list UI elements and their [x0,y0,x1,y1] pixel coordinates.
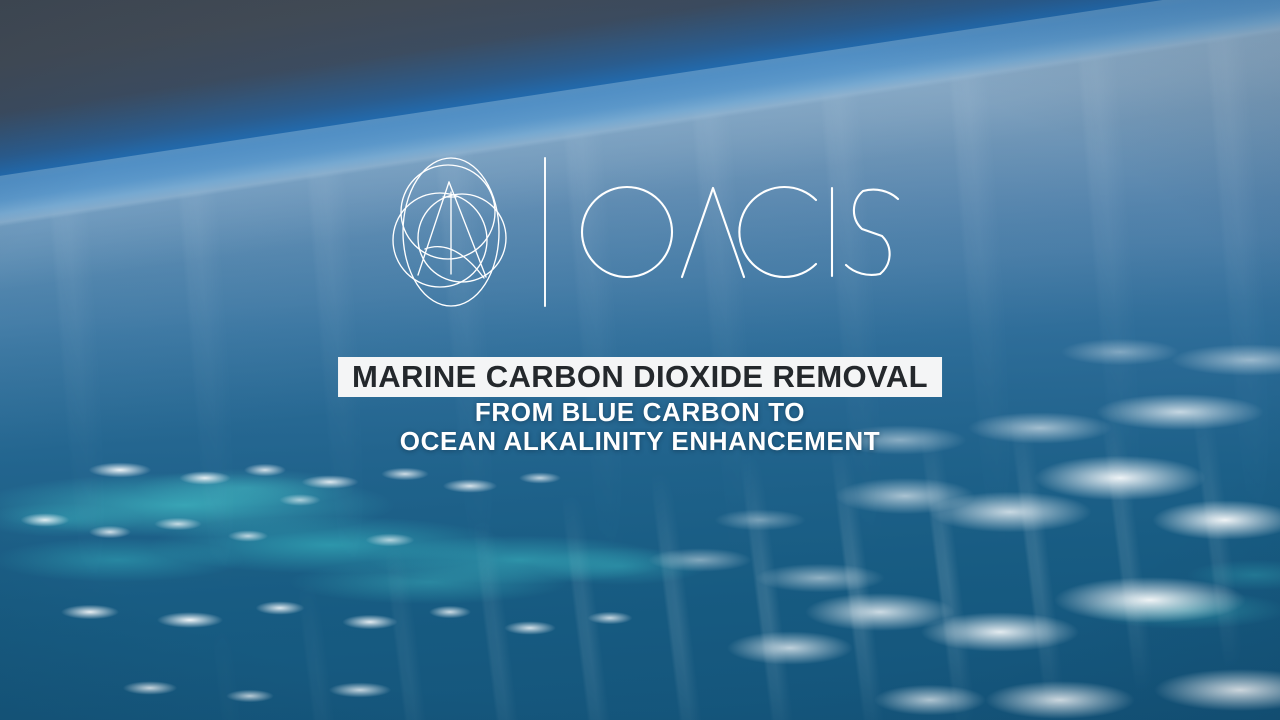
oacis-wordmark [580,172,902,292]
subtitle-line-1: FROM BLUE CARBON TO [140,398,1140,427]
oacis-logo-mark-icon [378,152,530,312]
title-slide: MARINE CARBON DIOXIDE REMOVAL FROM BLUE … [0,0,1280,720]
headline-band: MARINE CARBON DIOXIDE REMOVAL [338,357,942,397]
subtitle-line-2: OCEAN ALKALINITY ENHANCEMENT [140,427,1140,456]
subtitle-block: FROM BLUE CARBON TO OCEAN ALKALINITY ENH… [140,398,1140,456]
slide-content: MARINE CARBON DIOXIDE REMOVAL FROM BLUE … [0,0,1280,720]
logo-divider [544,157,546,307]
page-title: MARINE CARBON DIOXIDE REMOVAL [352,361,928,392]
logo-lockup [378,152,902,312]
